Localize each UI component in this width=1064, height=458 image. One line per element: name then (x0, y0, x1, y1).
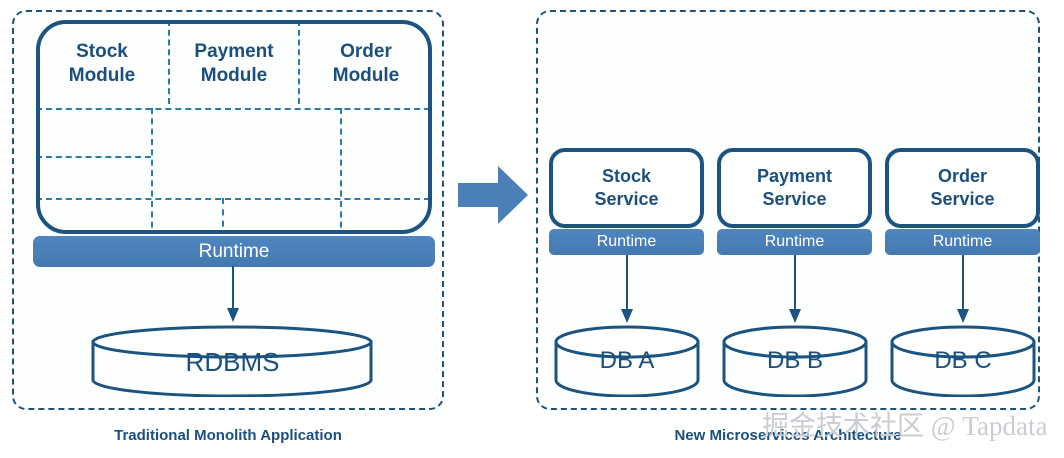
grid-line-horizontal (36, 108, 432, 110)
service-box-stock: Stock Service (549, 148, 704, 228)
module-stock-line2: Module (69, 64, 136, 88)
caption-right-panel: New Microservices Architecture (536, 427, 1040, 444)
service-order-line2: Service (930, 188, 994, 211)
service-box-order: Order Service (885, 148, 1040, 228)
service-stock-line1: Stock (602, 165, 651, 188)
grid-line-vertical (151, 108, 153, 234)
database-rdbms (90, 325, 375, 397)
connector-order-to-db-c (952, 255, 974, 327)
module-stock: Stock Module (36, 26, 168, 102)
runtime-bar-stock: Runtime (549, 229, 704, 255)
module-payment: Payment Module (168, 26, 300, 102)
database-db-a (553, 325, 701, 397)
runtime-bar-monolith: Runtime (33, 236, 435, 267)
runtime-bar-stock-label: Runtime (597, 233, 657, 251)
service-order-line1: Order (938, 165, 987, 188)
connector-payment-to-db-b (784, 255, 806, 327)
grid-line-vertical (222, 198, 224, 234)
connector-runtime-to-rdbms (222, 266, 244, 326)
module-payment-line2: Module (201, 64, 268, 88)
connector-stock-to-db-a (616, 255, 638, 327)
runtime-bar-order: Runtime (885, 229, 1040, 255)
service-payment-line2: Service (762, 188, 826, 211)
service-stock-line2: Service (594, 188, 658, 211)
monolith-module-row: Stock Module Payment Module Order Module (36, 26, 432, 102)
grid-line-horizontal (36, 156, 151, 158)
grid-line-horizontal (36, 198, 432, 200)
module-order: Order Module (300, 26, 432, 102)
database-db-c (889, 325, 1037, 397)
grid-line-vertical (340, 108, 342, 234)
service-box-payment: Payment Service (717, 148, 872, 228)
database-db-b (721, 325, 869, 397)
module-stock-line1: Stock (76, 40, 128, 64)
caption-left-panel: Traditional Monolith Application (12, 427, 444, 444)
runtime-bar-monolith-label: Runtime (199, 241, 270, 263)
diagram-canvas: Stock Module Payment Module Order Module… (0, 0, 1064, 458)
runtime-bar-payment-label: Runtime (765, 233, 825, 251)
module-payment-line1: Payment (194, 40, 273, 64)
module-order-line2: Module (333, 64, 400, 88)
service-payment-line1: Payment (757, 165, 832, 188)
runtime-bar-payment: Runtime (717, 229, 872, 255)
module-order-line1: Order (340, 40, 392, 64)
transform-right-arrow-icon (458, 164, 530, 226)
runtime-bar-order-label: Runtime (933, 233, 993, 251)
